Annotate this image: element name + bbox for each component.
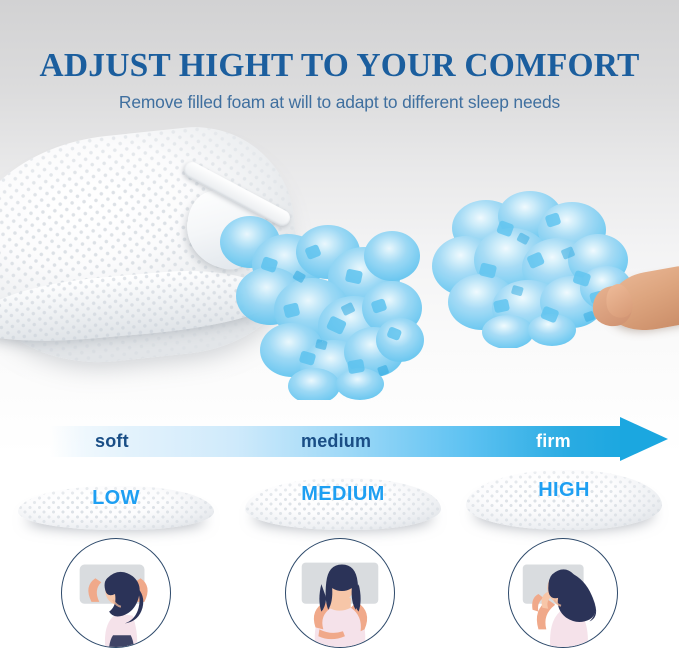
stomach-sleeper-illustration [62,539,170,647]
sleeper-row [0,538,679,651]
foam-spill [196,200,426,400]
sleeper-stomach [61,538,171,648]
tier-medium: MEDIUM [245,462,441,534]
sleeper-circle-frame [61,538,171,648]
firmness-scale: soft medium firm [0,424,679,460]
tier-label-low: LOW [18,487,214,510]
sleeper-side [508,538,618,648]
back-sleeper-illustration [286,539,394,647]
sleeper-circle-frame [508,538,618,648]
sleeper-circle-frame [285,538,395,648]
tier-row: LOW MEDIUM HIGH [0,462,679,534]
header: ADJUST HIGHT TO YOUR COMFORT Remove fill… [0,48,679,113]
sleeper-back [285,538,395,648]
tier-low: LOW [18,462,214,534]
tier-high: HIGH [466,462,662,534]
tier-label-medium: MEDIUM [245,483,441,506]
page-subtitle: Remove filled foam at will to adapt to d… [0,92,679,113]
hero-product-image [0,126,679,411]
scale-label-soft: soft [95,431,129,451]
infographic-canvas: ADJUST HIGHT TO YOUR COMFORT Remove fill… [0,0,679,651]
arrow-right-icon [620,417,668,461]
scale-label-medium: medium [301,431,371,451]
scale-label-firm: firm [536,431,571,451]
tier-label-high: HIGH [466,479,662,502]
page-title: ADJUST HIGHT TO YOUR COMFORT [0,48,679,84]
side-sleeper-illustration [509,539,617,647]
